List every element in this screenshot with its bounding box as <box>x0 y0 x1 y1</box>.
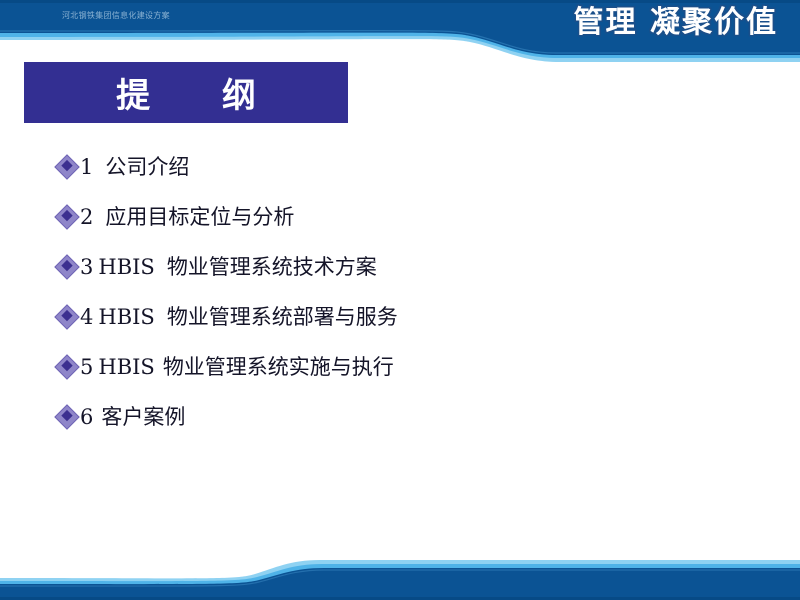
list-item-label: 物业管理系统部署与服务 <box>167 305 398 329</box>
list-item-number: 1 <box>80 155 93 179</box>
diamond-bullet-icon <box>54 304 79 329</box>
list-item-number: 2 <box>80 205 93 229</box>
list-item-label: 物业管理系统实施与执行 <box>163 355 394 379</box>
top-band-edge-accent <box>0 0 800 3</box>
list-item-label: 客户案例 <box>101 405 185 429</box>
list-item-number: 4 <box>80 305 93 329</box>
list-item-code: HBIS <box>98 255 154 279</box>
list-item[interactable]: 4HBIS物业管理系统部署与服务 <box>58 292 758 342</box>
slide-canvas: 河北钢铁集团信息化建设方案 管理 凝聚价值 提 纲 1公司介绍 2应用目标定位与… <box>0 0 800 600</box>
list-item[interactable]: 1公司介绍 <box>58 142 758 192</box>
list-item[interactable]: 6客户案例 <box>58 392 758 442</box>
diamond-bullet-icon <box>54 254 79 279</box>
list-item-label: 应用目标定位与分析 <box>105 205 294 229</box>
list-item-number: 5 <box>80 355 93 379</box>
outline-list: 1公司介绍 2应用目标定位与分析 3HBIS物业管理系统技术方案 4HBIS物业… <box>58 142 758 442</box>
list-item-number: 6 <box>80 405 93 429</box>
list-item[interactable]: 3HBIS物业管理系统技术方案 <box>58 242 758 292</box>
diamond-bullet-icon <box>54 204 79 229</box>
diamond-bullet-icon <box>54 154 79 179</box>
list-item-label: 物业管理系统技术方案 <box>167 255 377 279</box>
list-item-number: 3 <box>80 255 93 279</box>
list-item[interactable]: 5HBIS物业管理系统实施与执行 <box>58 342 758 392</box>
header-brand-text: 管理 凝聚价值 <box>574 4 778 42</box>
list-item-code: HBIS <box>98 305 154 329</box>
list-item-label: 公司介绍 <box>105 155 189 179</box>
slide-title-box: 提 纲 <box>24 62 348 123</box>
diamond-bullet-icon <box>54 354 79 379</box>
header-faint-caption: 河北钢铁集团信息化建设方案 <box>62 11 170 21</box>
diamond-bullet-icon <box>54 404 79 429</box>
list-item[interactable]: 2应用目标定位与分析 <box>58 192 758 242</box>
list-item-code: HBIS <box>98 355 154 379</box>
bottom-decorative-band <box>0 530 800 600</box>
page-title: 提 纲 <box>86 68 286 117</box>
